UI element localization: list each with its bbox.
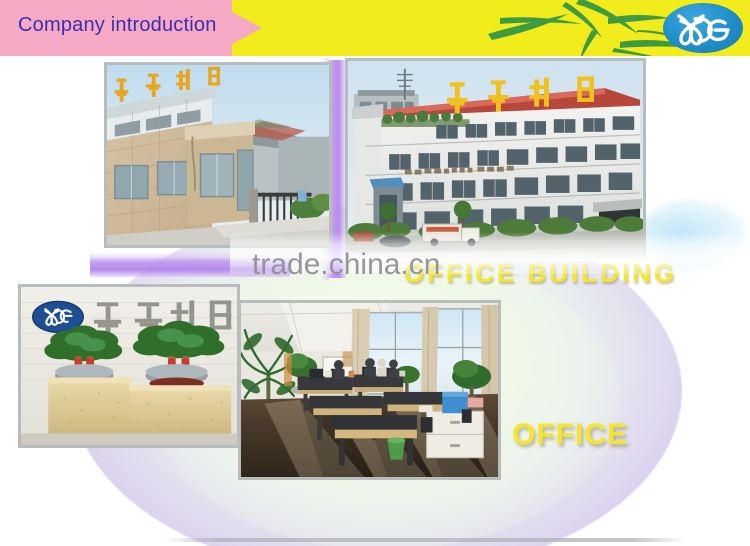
photo-factory-building[interactable]	[345, 58, 646, 259]
photo-reception[interactable]	[18, 284, 240, 448]
company-introduction-slide: Company introduction	[0, 0, 750, 546]
label-office: OFFICE	[512, 418, 628, 452]
bottom-divider	[165, 538, 685, 542]
slide-header: Company introduction	[0, 0, 750, 56]
photo-factory-gate[interactable]	[104, 62, 332, 248]
photo-office-interior[interactable]	[238, 300, 501, 480]
page-title: Company introduction	[18, 14, 217, 37]
site-watermark: trade.china.cn	[252, 248, 440, 282]
logo-monogram-xc-icon	[663, 3, 743, 53]
company-logo	[663, 3, 743, 53]
